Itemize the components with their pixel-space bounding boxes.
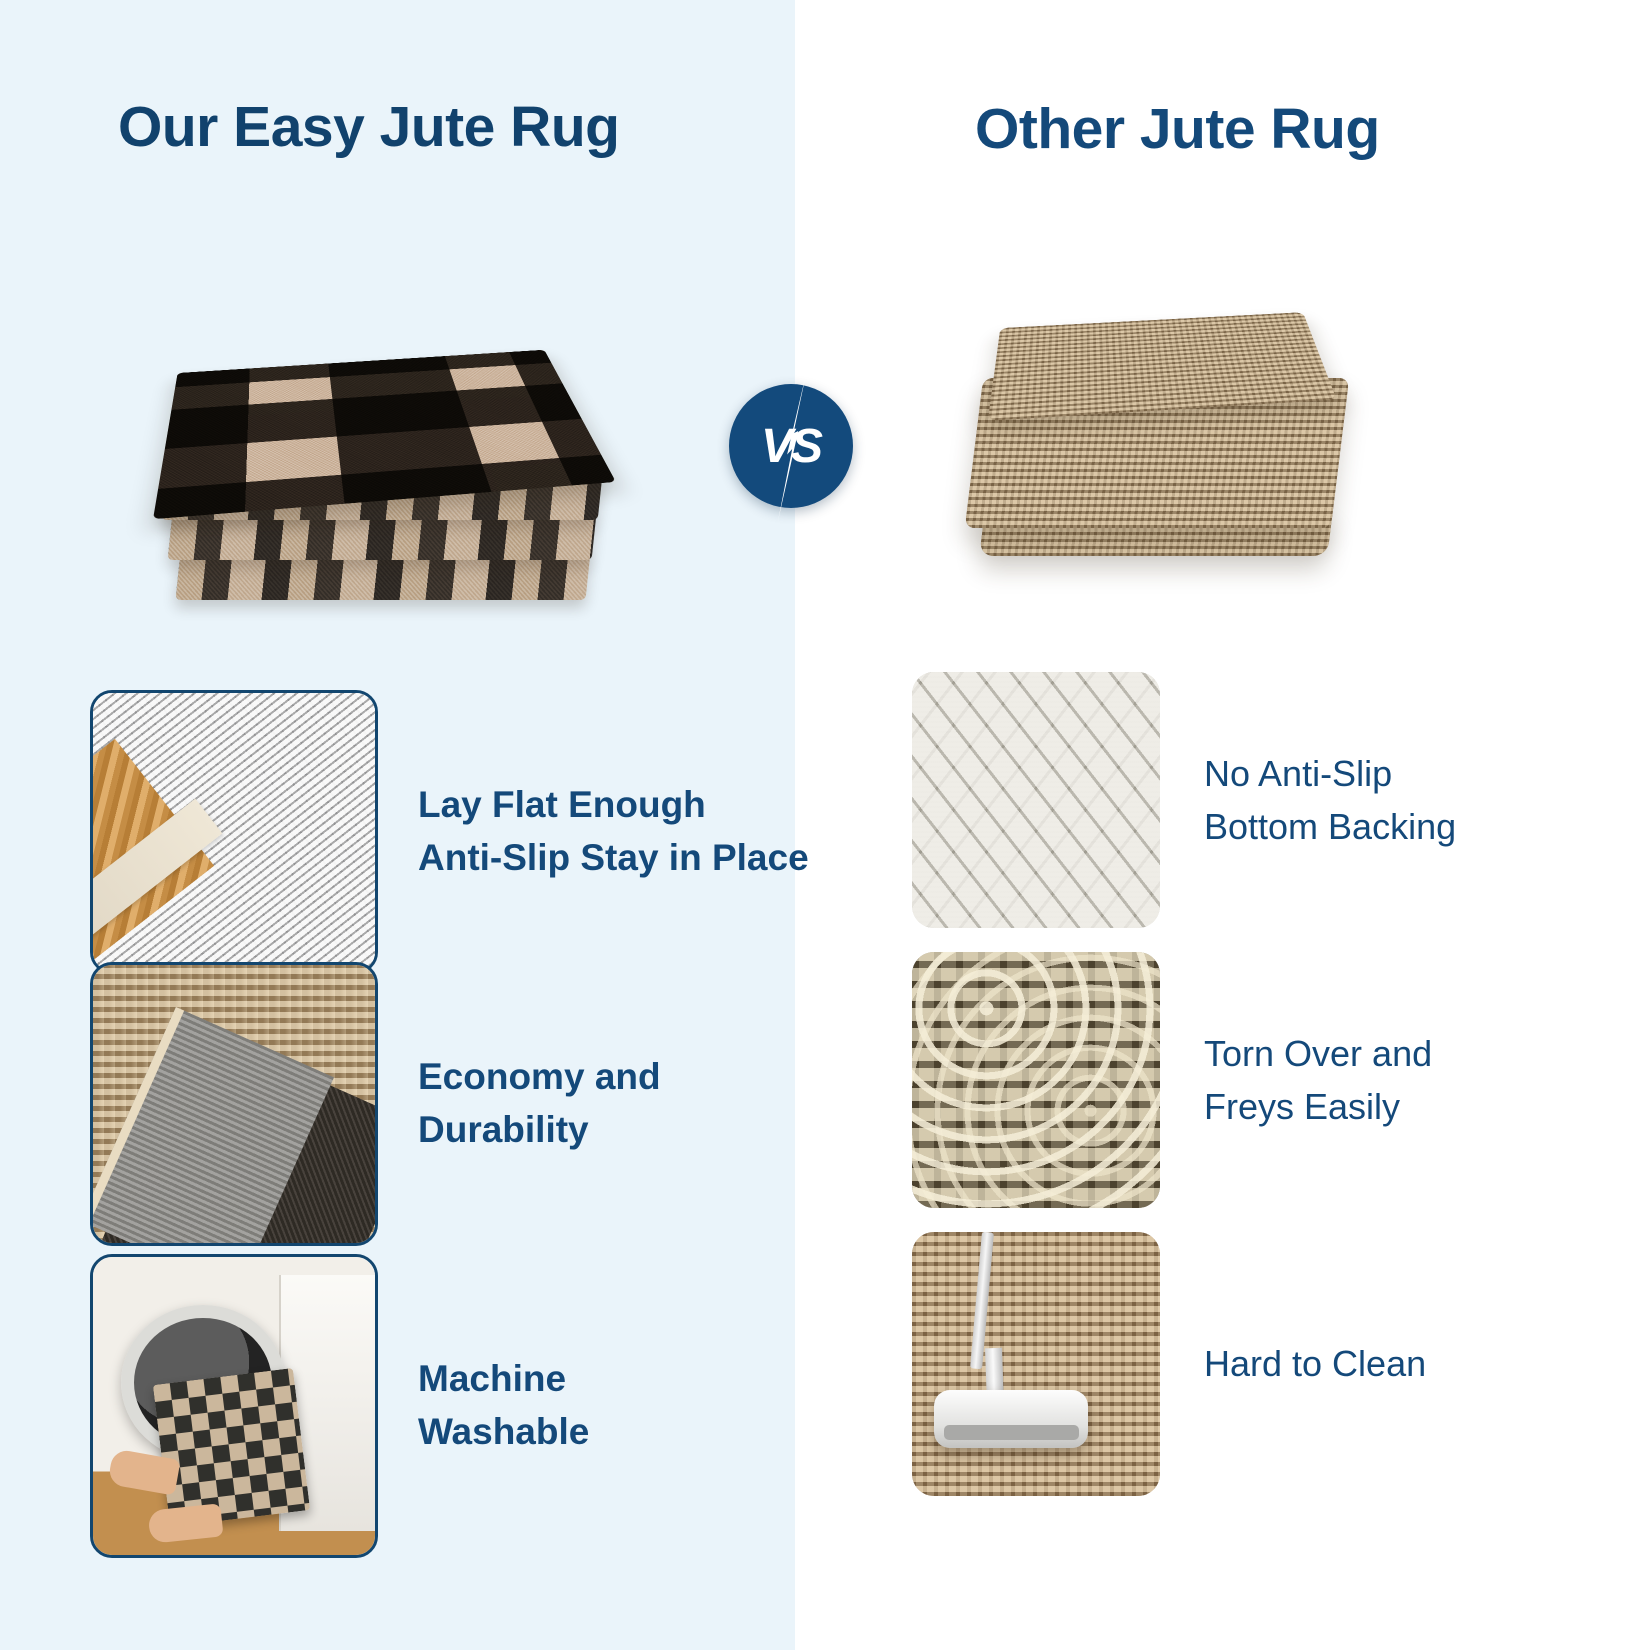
no-backing-rug-thumbnail: [912, 672, 1160, 928]
left-feature-1-line1: Lay Flat Enough: [418, 779, 809, 832]
washing-machine-thumbnail: [90, 1254, 378, 1558]
diamond-weave-texture: [912, 672, 1160, 928]
anti-slip-texture: [93, 693, 375, 971]
left-feature-3-line1: Machine: [418, 1353, 589, 1406]
left-feature-2-line1: Economy and: [418, 1051, 661, 1104]
right-feature-2-line2: Freys Easily: [1204, 1080, 1432, 1133]
woven-jute-durability-thumbnail: [90, 962, 378, 1246]
right-feature-2-text: Torn Over and Freys Easily: [1204, 1027, 1432, 1134]
right-feature-row-3: Hard to Clean: [912, 1232, 1426, 1496]
washing-machine-scene: [93, 1257, 375, 1555]
left-feature-row-3: Machine Washable: [90, 1254, 589, 1558]
right-feature-3-line1: Hard to Clean: [1204, 1337, 1426, 1390]
left-column-title: Our Easy Jute Rug: [118, 94, 619, 160]
right-feature-1-line1: No Anti-Slip: [1204, 747, 1456, 800]
right-hero-product-image: [960, 250, 1360, 600]
vacuum-on-jute-thumbnail: [912, 1232, 1160, 1496]
right-feature-3-text: Hard to Clean: [1204, 1337, 1426, 1390]
right-feature-1-text: No Anti-Slip Bottom Backing: [1204, 747, 1456, 854]
folded-plaid-rug-graphic: [140, 222, 640, 632]
rug-fold-middle: [168, 514, 597, 560]
left-feature-2-text: Economy and Durability: [418, 1051, 661, 1156]
left-feature-2-line2: Durability: [418, 1104, 661, 1157]
right-feature-row-1: No Anti-Slip Bottom Backing: [912, 672, 1456, 928]
vacuum-head-icon: [934, 1390, 1088, 1448]
frayed-loop-texture: [912, 952, 1160, 1208]
right-feature-1-line2: Bottom Backing: [1204, 800, 1456, 853]
left-feature-row-1: Lay Flat Enough Anti-Slip Stay in Place: [90, 690, 809, 974]
right-feature-row-2: Torn Over and Freys Easily: [912, 952, 1432, 1208]
left-feature-1-line2: Anti-Slip Stay in Place: [418, 832, 809, 885]
versus-badge: VS: [729, 384, 853, 508]
right-column-title: Other Jute Rug: [975, 96, 1380, 162]
right-feature-2-line1: Torn Over and: [1204, 1027, 1432, 1080]
left-feature-3-text: Machine Washable: [418, 1353, 589, 1458]
anti-slip-backing-thumbnail: [90, 690, 378, 974]
frayed-weave-thumbnail: [912, 952, 1160, 1208]
jute-carpet-texture: [912, 1232, 1160, 1496]
left-feature-row-2: Economy and Durability: [90, 962, 661, 1246]
durability-texture: [93, 965, 375, 1243]
left-hero-product-image: [140, 222, 640, 632]
left-feature-1-text: Lay Flat Enough Anti-Slip Stay in Place: [418, 779, 809, 884]
product-comparison-infographic: Our Easy Jute Rug Other Jute Rug VS: [0, 0, 1650, 1650]
checkered-rug: [152, 1368, 309, 1527]
left-feature-3-line2: Washable: [418, 1406, 589, 1459]
hand-right: [148, 1504, 224, 1544]
